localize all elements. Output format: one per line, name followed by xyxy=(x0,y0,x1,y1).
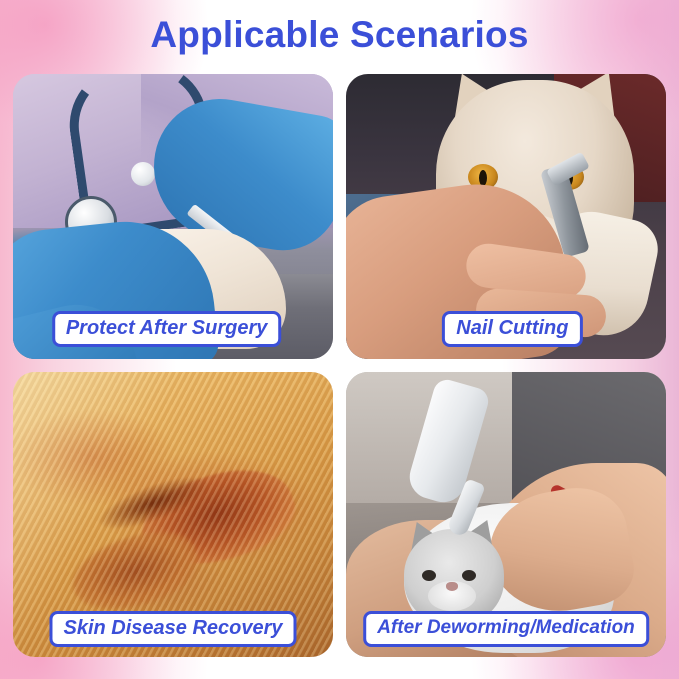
stethoscope-knob xyxy=(131,162,155,186)
scenario-card-skin-disease-recovery: Skin Disease Recovery xyxy=(13,372,333,657)
caption-protect-after-surgery: Protect After Surgery xyxy=(52,311,282,347)
scenario-card-protect-after-surgery: Protect After Surgery xyxy=(13,74,333,359)
cat-nose xyxy=(446,582,458,591)
scenario-card-after-deworming-medication: After Deworming/Medication xyxy=(346,372,666,657)
caption-after-deworming-medication: After Deworming/Medication xyxy=(363,611,649,647)
poster: Applicable Scenarios xyxy=(0,0,679,679)
scenario-card-nail-cutting: Nail Cutting xyxy=(346,74,666,359)
cat-eye-right xyxy=(462,570,476,581)
caption-nail-cutting: Nail Cutting xyxy=(442,311,582,347)
scenario-grid: Protect After Surgery Nail Cu xyxy=(13,74,666,668)
page-title: Applicable Scenarios xyxy=(0,8,679,62)
caption-skin-disease-recovery: Skin Disease Recovery xyxy=(49,611,296,647)
cat-eye-left xyxy=(422,570,436,581)
